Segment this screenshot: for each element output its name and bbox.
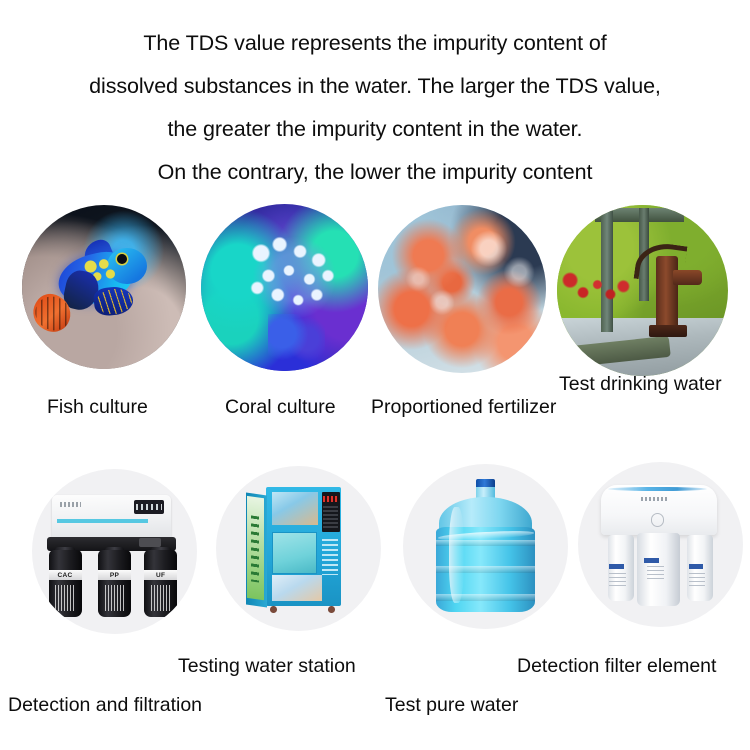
- blue-water-jug-photo: [403, 464, 568, 629]
- purifier-valve: [139, 538, 160, 546]
- cartridge-barcode-3: [151, 585, 171, 611]
- purifier-accent-stripe: [57, 519, 148, 524]
- filter-cartridge-center-text: [647, 566, 664, 583]
- image-proportioned-fertilizer: [378, 205, 546, 373]
- vending-machine-dispense-window: [272, 532, 317, 574]
- fish-aquarium-photo: [22, 205, 186, 369]
- flower-fertilizer-photo: [378, 205, 546, 373]
- filter-cartridge-right-label: [689, 564, 704, 569]
- cartridge-barcode-1: [55, 585, 75, 611]
- headline-line-2: dissolved substances in the water. The l…: [0, 65, 750, 108]
- jug-specular-highlight: [449, 507, 464, 603]
- purifier-brand-text: [60, 502, 81, 507]
- image-detection-and-filtration: CAC PP UF: [32, 469, 197, 634]
- red-berry-branch: [560, 267, 632, 311]
- headline-line-4: On the contrary, the lower the impurity …: [0, 151, 750, 194]
- image-detection-filter-element: [578, 462, 743, 627]
- purifier-display-digits: [136, 504, 162, 511]
- filter-element-housing: [601, 485, 717, 535]
- filter-element-brand-text: [641, 497, 667, 501]
- filter-cartridge-right-text: [689, 573, 706, 590]
- image-fish-culture: [22, 205, 186, 369]
- cartridge-label-2: PP: [98, 570, 131, 581]
- water-vending-machine-photo: [216, 466, 381, 631]
- image-test-pure-water: [403, 464, 568, 629]
- caption-test-drinking-water: Test drinking water: [559, 373, 722, 395]
- filter-element-logo-icon: [651, 513, 665, 527]
- caption-coral-culture: Coral culture: [225, 396, 336, 418]
- image-testing-water-station: [216, 466, 381, 631]
- headline-line-3: the greater the impurity content in the …: [0, 108, 750, 151]
- headline-paragraph: The TDS value represents the impurity co…: [0, 22, 750, 194]
- flower-bokeh-highlights: [378, 205, 546, 373]
- coral-polyps: [268, 314, 325, 364]
- vending-machine-led-display: [323, 496, 338, 503]
- filter-cartridge-left-label: [609, 564, 624, 569]
- headline-line-1: The TDS value represents the impurity co…: [0, 22, 750, 65]
- infographic-page: The TDS value represents the impurity co…: [0, 0, 750, 750]
- cartridge-barcode-2: [105, 585, 125, 611]
- caption-detection-filter-element: Detection filter element: [517, 655, 716, 677]
- caption-detection-and-filtration: Detection and filtration: [8, 694, 202, 716]
- caption-test-pure-water: Test pure water: [385, 694, 518, 716]
- caption-testing-water-station: Testing water station: [178, 655, 356, 677]
- image-test-drinking-water: [557, 205, 728, 376]
- white-filter-element-photo: [578, 462, 743, 627]
- pump-base: [649, 325, 687, 337]
- vending-machine-top-poster: [272, 492, 318, 525]
- coral-tentacle-tips: [248, 234, 342, 321]
- filter-cartridge-left-text: [609, 573, 626, 590]
- filter-cartridge-center-label: [644, 558, 659, 563]
- cartridge-label-3: UF: [144, 570, 177, 581]
- caption-proportioned-fertilizer: Proportioned fertilizer: [371, 396, 556, 418]
- pump-spout: [673, 270, 702, 285]
- cartridge-label-1: CAC: [49, 570, 82, 581]
- fish-eye: [117, 254, 127, 264]
- vending-machine-side-label: [322, 539, 339, 575]
- vending-machine-side-text: [251, 515, 259, 582]
- caption-fish-culture: Fish culture: [47, 396, 148, 418]
- hand-water-pump-photo: [557, 205, 728, 376]
- pump-cylinder: [656, 256, 678, 331]
- filter-element-blue-trim: [608, 487, 707, 491]
- vending-machine-buttons: [323, 506, 338, 529]
- ro-water-purifier-photo: CAC PP UF: [32, 469, 197, 634]
- coral-reef-photo: [201, 204, 368, 371]
- vending-machine-wheel-left: [270, 606, 277, 613]
- image-coral-culture: [201, 204, 368, 371]
- vending-machine-bottom-poster: [272, 575, 322, 601]
- vending-machine-wheel-right: [328, 606, 335, 613]
